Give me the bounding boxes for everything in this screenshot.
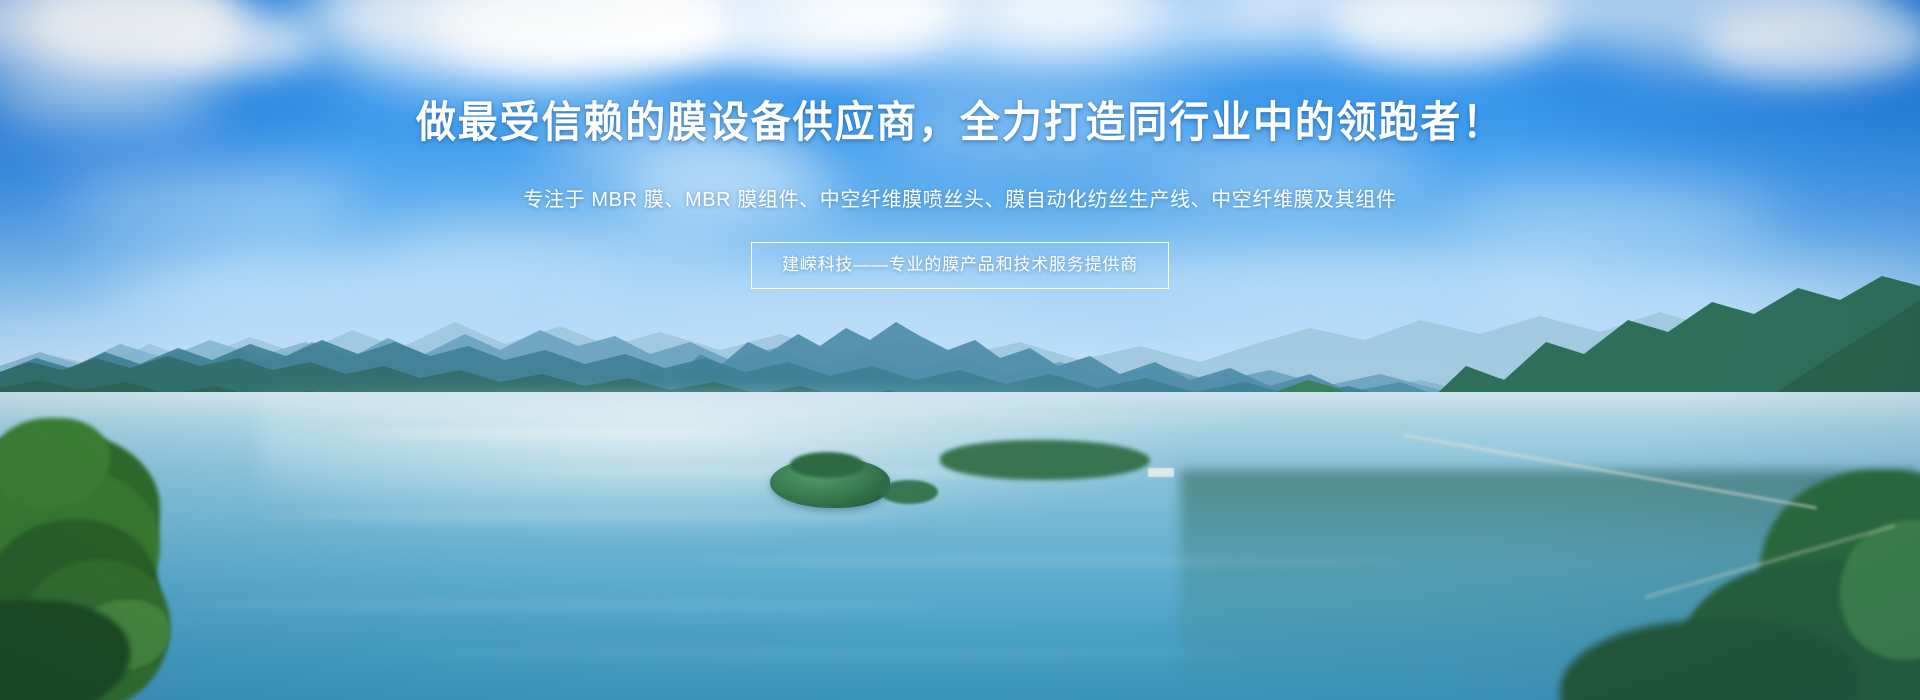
banner-tagline-box: 建嵘科技——专业的膜产品和技术服务提供商 [751, 242, 1169, 289]
hero-banner: 做最受信赖的膜设备供应商，全力打造同行业中的领跑者！ 专注于 MBR 膜、MBR… [0, 0, 1920, 700]
banner-tagline-row: 建嵘科技——专业的膜产品和技术服务提供商 [0, 242, 1920, 289]
banner-text-overlay: 做最受信赖的膜设备供应商，全力打造同行业中的领跑者！ 专注于 MBR 膜、MBR… [0, 0, 1920, 700]
banner-subtitle: 专注于 MBR 膜、MBR 膜组件、中空纤维膜喷丝头、膜自动化纺丝生产线、中空纤… [0, 186, 1920, 214]
banner-headline: 做最受信赖的膜设备供应商，全力打造同行业中的领跑者！ [67, 98, 1853, 148]
